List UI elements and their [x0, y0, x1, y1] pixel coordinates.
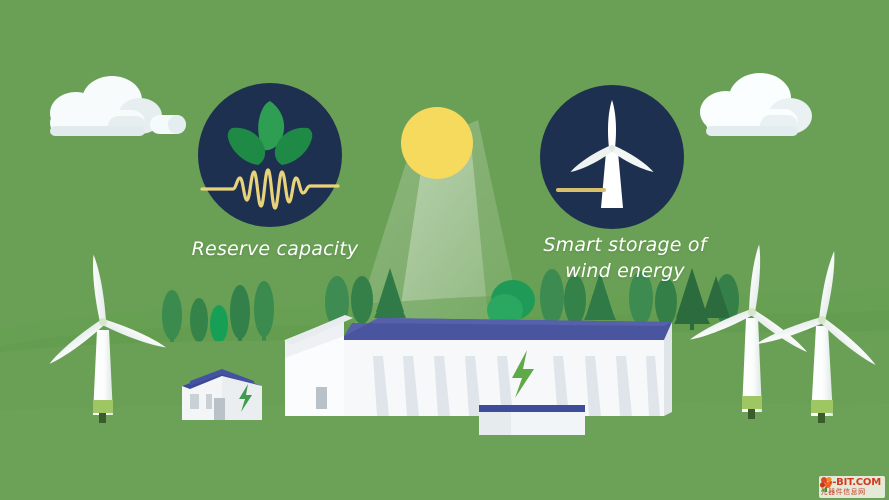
smart-storage-badge[interactable]: [540, 85, 684, 229]
cloud-left-small: [150, 115, 186, 134]
scene-svg: [0, 0, 889, 500]
reserve-capacity-badge[interactable]: [198, 83, 342, 227]
illustration-canvas: Reserve capacity Smart storage of wind e…: [0, 0, 889, 500]
sun: [401, 107, 473, 179]
flower-logo-icon: [819, 476, 835, 493]
storage-warehouse: [284, 315, 672, 416]
ground-front: [0, 403, 889, 500]
ig-bit-watermark: IG-BIT.COM 元器件信息网: [819, 476, 885, 498]
substation-platform: [479, 405, 585, 435]
